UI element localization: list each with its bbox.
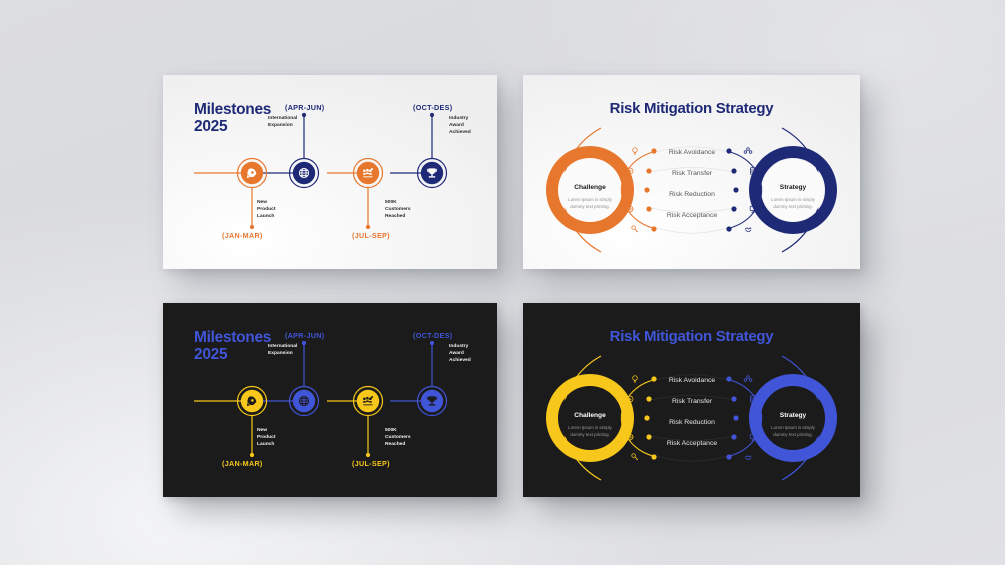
strategy-ring[interactable]: Strategy Lorem Ipsum is simply dummy tex… bbox=[755, 152, 831, 228]
milestone-node-1[interactable] bbox=[238, 387, 267, 416]
strategy-ring[interactable]: Strategy Lorem Ipsum is simply dummy tex… bbox=[755, 380, 831, 456]
challenge-ring[interactable]: Challenge Lorem Ipsum is simply dummy te… bbox=[552, 152, 628, 228]
strategy-body-l1: Lorem Ipsum is simply bbox=[771, 425, 815, 430]
milestones-title-line1: Milestones bbox=[194, 329, 271, 346]
milestone-node-3[interactable] bbox=[354, 387, 383, 416]
milestone-3-desc-l1: 500K bbox=[385, 427, 397, 433]
milestone-1-period: (JAN-MAR) bbox=[222, 231, 263, 240]
risk-title: Risk Mitigation Strategy bbox=[610, 328, 775, 345]
milestone-2-desc-l1: International bbox=[268, 115, 298, 121]
risk-item-2-label: Risk Transfer bbox=[672, 398, 713, 405]
milestone-node-2[interactable] bbox=[290, 159, 319, 188]
milestone-node-4[interactable] bbox=[418, 387, 447, 416]
milestone-1-desc-l1: New bbox=[257, 199, 267, 205]
risk-light-graphic: Risk Mitigation Strategy Challenge Lorem… bbox=[523, 75, 860, 269]
challenge-label: Challenge bbox=[574, 184, 606, 191]
strategy-body-l2: dummy text printing. bbox=[773, 432, 813, 437]
risk-item-4-label: Risk Acceptance bbox=[667, 212, 717, 219]
challenge-body-l1: Lorem Ipsum is simply bbox=[568, 197, 612, 202]
milestone-node-3[interactable] bbox=[354, 159, 383, 188]
milestone-3-period: (JUL-SEP) bbox=[352, 459, 390, 468]
slide-milestones-dark[interactable]: Milestones 2025 bbox=[163, 303, 497, 497]
slide-risk-dark[interactable]: Risk Mitigation Strategy Challenge Lorem… bbox=[523, 303, 860, 497]
challenge-ring[interactable]: Challenge Lorem Ipsum is simply dummy te… bbox=[552, 380, 628, 456]
challenge-body-l2: dummy text printing. bbox=[570, 432, 610, 437]
strategy-body-l1: Lorem Ipsum is simply bbox=[771, 197, 815, 202]
milestones-light-graphic: Milestones 2025 bbox=[163, 75, 497, 269]
challenge-body-l2: dummy text printing. bbox=[570, 204, 610, 209]
challenge-label: Challenge bbox=[574, 412, 606, 419]
milestone-4-desc-l2: Award bbox=[449, 122, 464, 128]
milestone-3-desc-l1: 500K bbox=[385, 199, 397, 205]
milestone-2-period: (APR-JUN) bbox=[285, 103, 325, 112]
risk-item-4-label: Risk Acceptance bbox=[667, 440, 717, 447]
milestones-title-line2: 2025 bbox=[194, 118, 228, 135]
milestone-4-period: (OCT-DES) bbox=[413, 331, 453, 340]
milestone-1-desc-l3: Launch bbox=[257, 441, 274, 447]
milestone-4-period: (OCT-DES) bbox=[413, 103, 453, 112]
slide-milestones-light[interactable]: Milestones 2025 bbox=[163, 75, 497, 269]
milestone-3-desc-l2: Customers bbox=[385, 206, 411, 212]
milestone-node-2[interactable] bbox=[290, 387, 319, 416]
milestone-3-period: (JUL-SEP) bbox=[352, 231, 390, 240]
milestone-1-period: (JAN-MAR) bbox=[222, 459, 263, 468]
milestone-3-desc-l3: Reached bbox=[385, 213, 405, 219]
milestone-4-desc-l2: Award bbox=[449, 350, 464, 356]
milestone-4-desc-l3: Achieved bbox=[449, 357, 471, 363]
milestone-1-desc-l3: Launch bbox=[257, 213, 274, 219]
milestone-4-desc-l1: Industry bbox=[449, 343, 469, 349]
milestone-2-desc-l2: Expansion bbox=[268, 350, 293, 356]
milestone-1-desc-l2: Product bbox=[257, 434, 276, 440]
risk-title: Risk Mitigation Strategy bbox=[610, 100, 775, 117]
strategy-body-l2: dummy text printing. bbox=[773, 204, 813, 209]
milestone-node-4[interactable] bbox=[418, 159, 447, 188]
milestone-2-desc-l1: International bbox=[268, 343, 298, 349]
milestone-4-desc-l3: Achieved bbox=[449, 129, 471, 135]
risk-item-2-label: Risk Transfer bbox=[672, 170, 713, 177]
milestone-3-desc-l2: Customers bbox=[385, 434, 411, 440]
milestones-title-line1: Milestones bbox=[194, 101, 271, 118]
milestones-title-line2: 2025 bbox=[194, 346, 228, 363]
risk-item-1-label: Risk Avoidance bbox=[669, 149, 716, 156]
milestones-dark-graphic: Milestones 2025 bbox=[163, 303, 497, 497]
milestone-1-desc-l1: New bbox=[257, 427, 267, 433]
strategy-label: Strategy bbox=[780, 184, 807, 191]
milestone-4-desc-l1: Industry bbox=[449, 115, 469, 121]
milestone-node-1[interactable] bbox=[238, 159, 267, 188]
slide-risk-light[interactable]: Risk Mitigation Strategy Challenge Lorem… bbox=[523, 75, 860, 269]
risk-item-1-label: Risk Avoidance bbox=[669, 377, 716, 384]
milestone-2-desc-l2: Expansion bbox=[268, 122, 293, 128]
slide-deck-canvas: Milestones 2025 bbox=[0, 0, 1005, 565]
strategy-label: Strategy bbox=[780, 412, 807, 419]
risk-item-3-label: Risk Reduction bbox=[669, 419, 715, 426]
risk-dark-graphic: Risk Mitigation Strategy Challenge Lorem… bbox=[523, 303, 860, 497]
milestone-3-desc-l3: Reached bbox=[385, 441, 405, 447]
milestone-2-period: (APR-JUN) bbox=[285, 331, 325, 340]
milestone-1-desc-l2: Product bbox=[257, 206, 276, 212]
risk-item-3-label: Risk Reduction bbox=[669, 191, 715, 198]
challenge-body-l1: Lorem Ipsum is simply bbox=[568, 425, 612, 430]
